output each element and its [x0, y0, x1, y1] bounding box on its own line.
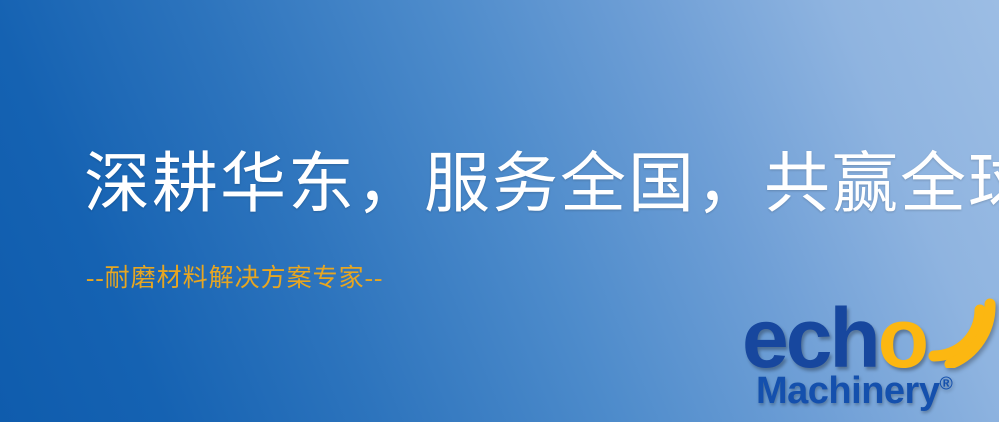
- signal-wave-icon: [924, 294, 996, 368]
- logo-tagline: Machinery®: [756, 372, 953, 410]
- hero-banner: 深耕华东，服务全国，共赢全球 --耐磨材料解决方案专家-- echo Machi…: [0, 0, 999, 422]
- banner-headline: 深耕华东，服务全国，共赢全球: [84, 152, 999, 218]
- registered-trademark-icon: ®: [939, 373, 952, 393]
- banner-subtitle: --耐磨材料解决方案专家--: [86, 266, 383, 291]
- logo-tagline-text: Machinery: [756, 370, 939, 412]
- logo-wordmark: echo: [742, 296, 926, 380]
- company-logo: echo Machinery®: [742, 296, 994, 420]
